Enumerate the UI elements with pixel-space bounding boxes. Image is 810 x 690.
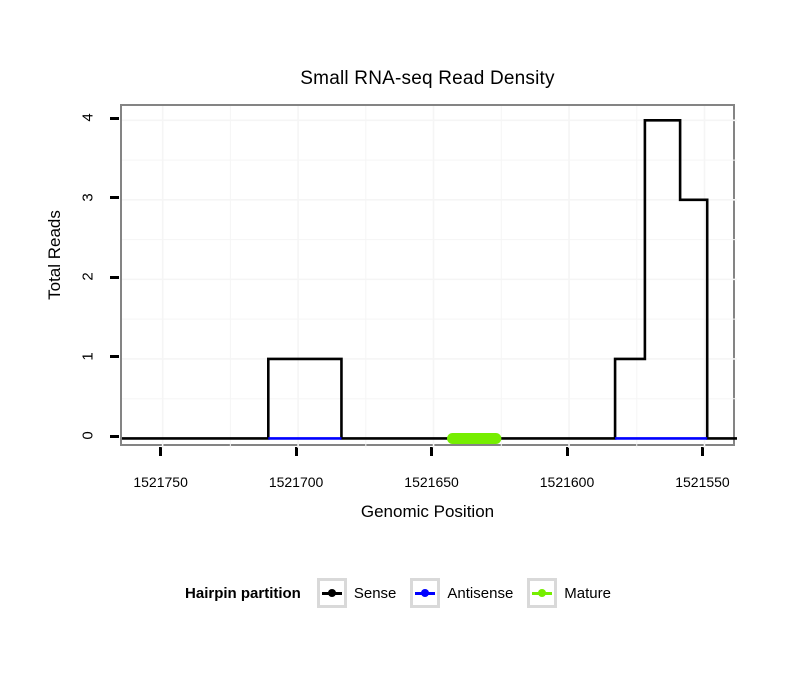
legend-items: SenseAntisenseMature [317, 578, 625, 608]
chart-legend: Hairpin partition SenseAntisenseMature [0, 578, 810, 608]
legend-title: Hairpin partition [185, 585, 301, 602]
y-tick-label: 3 [80, 187, 97, 207]
plot-panel [120, 104, 735, 446]
legend-key-dot [328, 589, 336, 597]
x-tick-label: 1521750 [116, 474, 206, 490]
y-tick-mark [110, 355, 119, 358]
y-tick-mark [110, 276, 119, 279]
x-tick-mark [566, 447, 569, 456]
legend-key-swatch [527, 578, 557, 608]
legend-key-swatch [410, 578, 440, 608]
legend-item-antisense[interactable]: Antisense [410, 578, 513, 608]
legend-key-dot [538, 589, 546, 597]
x-tick-label: 1521550 [657, 474, 747, 490]
y-tick-label: 0 [80, 426, 97, 446]
x-tick-label: 1521600 [522, 474, 612, 490]
x-tick-mark [701, 447, 704, 456]
y-tick-label: 1 [80, 346, 97, 366]
x-tick-label: 1521650 [387, 474, 477, 490]
y-axis-label: Total Reads [45, 155, 65, 355]
y-tick-mark [110, 435, 119, 438]
x-tick-mark [159, 447, 162, 456]
y-tick-mark [110, 117, 119, 120]
y-tick-label: 2 [80, 267, 97, 287]
y-tick-label: 4 [80, 108, 97, 128]
legend-item-mature[interactable]: Mature [527, 578, 611, 608]
legend-label: Antisense [447, 585, 513, 602]
plot-area [122, 106, 737, 448]
legend-key-dot [421, 589, 429, 597]
legend-item-sense[interactable]: Sense [317, 578, 397, 608]
chart-figure: Small RNA-seq Read Density Total Reads G… [0, 0, 810, 690]
legend-key-swatch [317, 578, 347, 608]
legend-label: Sense [354, 585, 397, 602]
y-tick-mark [110, 196, 119, 199]
x-tick-mark [295, 447, 298, 456]
x-tick-mark [430, 447, 433, 456]
legend-label: Mature [564, 585, 611, 602]
x-tick-label: 1521700 [251, 474, 341, 490]
x-axis-label: Genomic Position [120, 502, 735, 522]
chart-title: Small RNA-seq Read Density [120, 68, 735, 90]
